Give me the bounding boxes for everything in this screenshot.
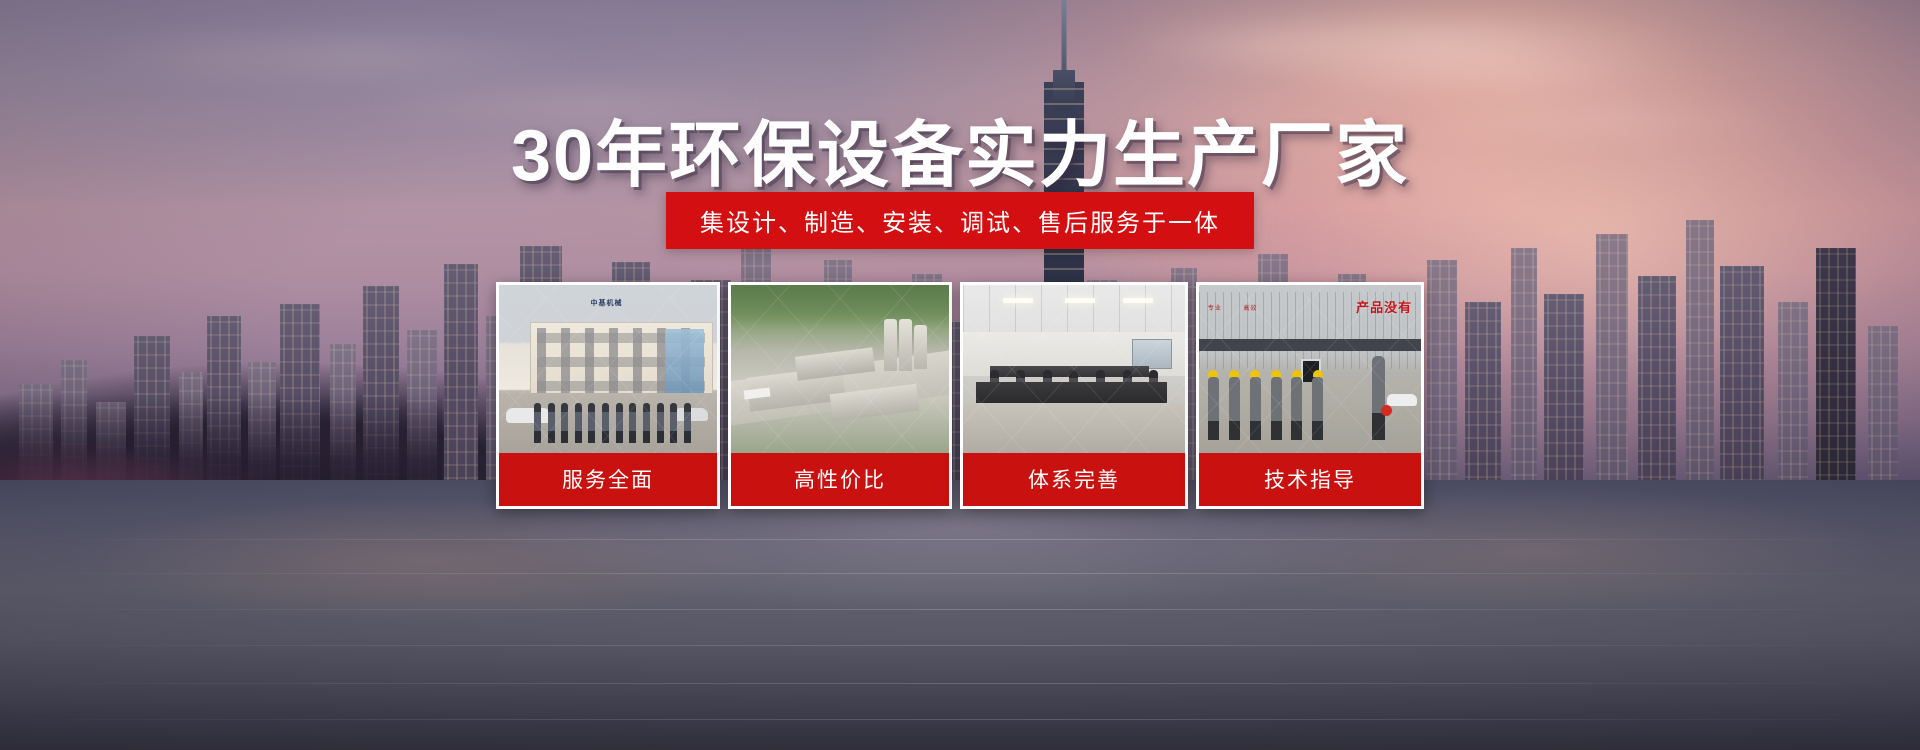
- subtitle-banner: 集设计、制造、安装、调试、售后服务于一体: [666, 192, 1254, 249]
- cloud: [1267, 60, 1747, 90]
- feature-card-row: 中基机械 服务全面 高性价比: [496, 282, 1424, 509]
- subtitle-container: 集设计、制造、安装、调试、售后服务于一体: [0, 192, 1920, 249]
- feature-card[interactable]: 产品没有 专业 高效 技术指导: [1196, 282, 1424, 509]
- factory-slogan-2: 高效: [1243, 303, 1257, 312]
- office-interior-photo: [963, 285, 1185, 453]
- building-sign-text: 中基机械: [591, 298, 623, 308]
- factory-slogan-1: 专业: [1208, 303, 1222, 312]
- factory-banner-text: 产品没有: [1356, 297, 1412, 316]
- hero-banner: 30年环保设备实力生产厂家 集设计、制造、安装、调试、售后服务于一体 中基机械 …: [0, 0, 1920, 750]
- feature-card-label: 服务全面: [499, 453, 717, 506]
- water-reflection: [0, 480, 1920, 750]
- cloud: [1114, 23, 1714, 65]
- feature-card-label: 体系完善: [963, 453, 1185, 506]
- feature-card[interactable]: 高性价比: [728, 282, 952, 509]
- feature-card-label: 高性价比: [731, 453, 949, 506]
- feature-card[interactable]: 体系完善: [960, 282, 1188, 509]
- aerial-plant-photo: [731, 285, 949, 453]
- page-title: 30年环保设备实力生产厂家: [0, 96, 1920, 201]
- feature-card[interactable]: 中基机械 服务全面: [496, 282, 720, 509]
- feature-card-label: 技术指导: [1199, 453, 1421, 506]
- office-building-photo: 中基机械: [499, 285, 717, 453]
- cloud: [77, 38, 597, 74]
- factory-training-photo: 产品没有 专业 高效: [1199, 285, 1421, 453]
